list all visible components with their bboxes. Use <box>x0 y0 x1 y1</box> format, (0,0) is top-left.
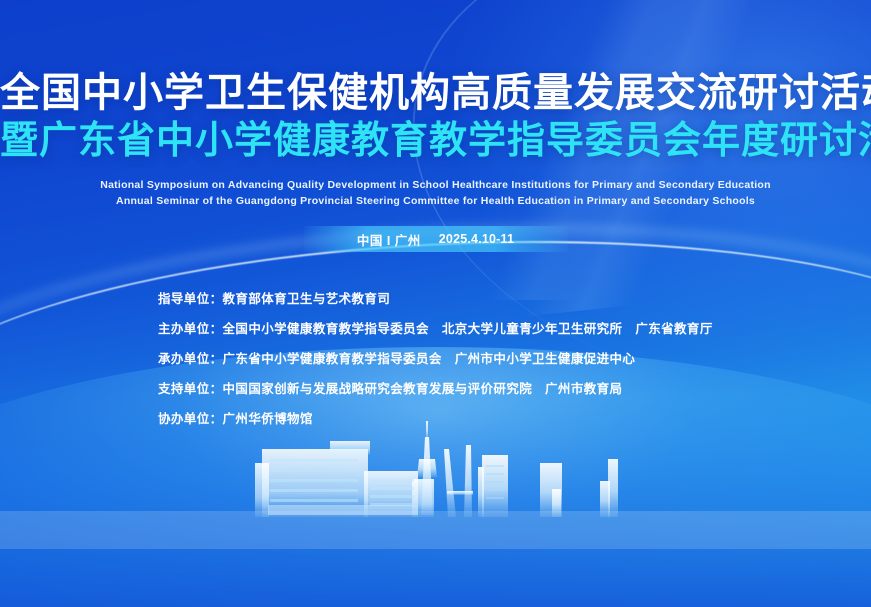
title-line-secondary: 暨广东省中小学健康教育教学指导委员会年度研讨活动 <box>0 121 871 162</box>
page-title: 全国中小学卫生保健机构高质量发展交流研讨活动 暨广东省中小学健康教育教学指导委员… <box>0 72 871 162</box>
event-meta-badge: 中国 I 广州 2025.4.10-11 <box>304 226 568 252</box>
organizer-label: 协办单位： <box>158 408 223 427</box>
event-location: 中国 I 广州 <box>357 230 421 249</box>
organizer-row: 指导单位： 教育部体育卫生与艺术教育司 <box>158 288 713 307</box>
subtitle-line-1: National Symposium on Advancing Quality … <box>0 178 871 194</box>
organizer-label: 指导单位： <box>158 288 223 307</box>
organizer-label: 支持单位： <box>158 378 223 397</box>
midrise-tower <box>478 455 508 517</box>
organizer-value: 中国国家创新与发展战略研究会教育发展与评价研究院 广州市教育局 <box>223 378 623 397</box>
subtitle: National Symposium on Advancing Quality … <box>0 178 871 210</box>
subtitle-line-2: Annual Seminar of the Guangdong Provinci… <box>0 194 871 210</box>
organizer-list: 指导单位： 教育部体育卫生与艺术教育司 主办单位： 全国中小学健康教育教学指导委… <box>158 288 713 438</box>
organizer-row: 主办单位： 全国中小学健康教育教学指导委员会 北京大学儿童青少年卫生研究所 广东… <box>158 318 713 337</box>
organizer-row: 协办单位： 广州华侨博物馆 <box>158 408 713 427</box>
skyline-illustration <box>0 419 871 549</box>
event-date: 2025.4.10-11 <box>439 232 514 246</box>
title-line-primary: 全国中小学卫生保健机构高质量发展交流研讨活动 <box>0 72 871 115</box>
organizer-row: 承办单位： 广东省中小学健康教育教学指导委员会 广州市中小学卫生健康促进中心 <box>158 348 713 367</box>
organizer-label: 承办单位： <box>158 348 223 367</box>
organizer-row: 支持单位： 中国国家创新与发展战略研究会教育发展与评价研究院 广州市教育局 <box>158 378 713 397</box>
twin-towers <box>444 445 473 517</box>
ground-haze <box>0 511 871 549</box>
conference-banner: 全国中小学卫生保健机构高质量发展交流研讨活动 暨广东省中小学健康教育教学指导委员… <box>0 0 871 607</box>
organizer-label: 主办单位： <box>158 318 223 337</box>
far-right-towers <box>548 459 556 517</box>
light-streak-primary <box>390 0 871 326</box>
organizer-value: 全国中小学健康教育教学指导委员会 北京大学儿童青少年卫生研究所 广东省教育厅 <box>223 318 713 337</box>
organizer-value: 广州华侨博物馆 <box>223 408 313 427</box>
organizer-value: 教育部体育卫生与艺术教育司 <box>223 288 391 307</box>
organizer-value: 广东省中小学健康教育教学指导委员会 广州市中小学卫生健康促进中心 <box>223 348 636 367</box>
